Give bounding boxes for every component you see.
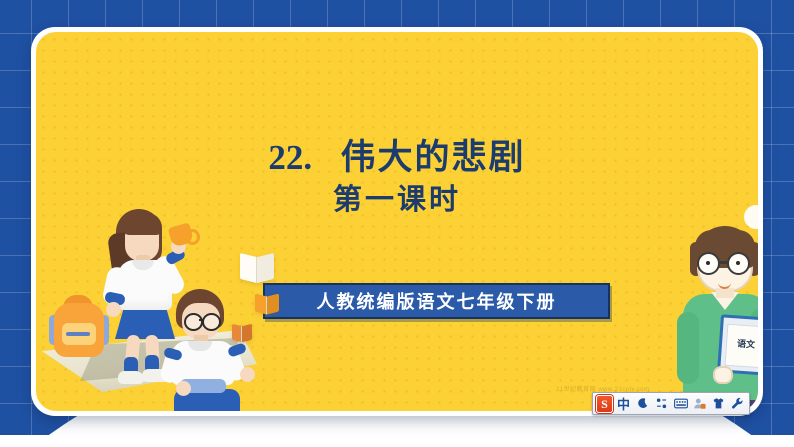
title-text: 伟大的悲剧 xyxy=(341,138,526,178)
textbook-banner: 人教统编版语文七年级下册 xyxy=(263,283,610,319)
white-bottom-strip xyxy=(0,435,794,447)
toolbox-wrench-icon[interactable] xyxy=(729,395,746,412)
user-account-icon[interactable] xyxy=(691,395,708,412)
textbook-banner-label: 人教统编版语文七年级下册 xyxy=(317,288,557,314)
punctuation-mode-icon[interactable] xyxy=(653,395,670,412)
slide-card-frame: 22. 伟大的悲剧 第一课时 人教统编版语文七年级下册 xyxy=(31,27,763,416)
soft-keyboard-icon[interactable] xyxy=(672,395,689,412)
flying-book-icon xyxy=(240,255,274,281)
textbook-label: 语文 xyxy=(728,336,758,351)
moon-icon xyxy=(744,205,758,229)
sogou-logo-icon[interactable]: S xyxy=(596,395,613,412)
page-title: 22. 伟大的悲剧 xyxy=(36,137,758,179)
students-illustration xyxy=(40,207,290,411)
title-number: 22. xyxy=(268,138,312,177)
sogou-input-method-toolbar[interactable]: S 中 xyxy=(592,392,750,415)
skin-shirt-icon[interactable] xyxy=(710,395,727,412)
boy-student-figure xyxy=(158,289,278,411)
presentation-slide: 22. 伟大的悲剧 第一课时 人教统编版语文七年级下册 xyxy=(0,0,794,447)
teacher-boy-illustration: 语文 xyxy=(661,200,758,411)
chinese-mode-toggle[interactable]: 中 xyxy=(615,395,632,412)
half-width-moon-icon[interactable] xyxy=(634,395,651,412)
slide-card: 22. 伟大的悲剧 第一课时 人教统编版语文七年级下册 xyxy=(36,32,758,411)
